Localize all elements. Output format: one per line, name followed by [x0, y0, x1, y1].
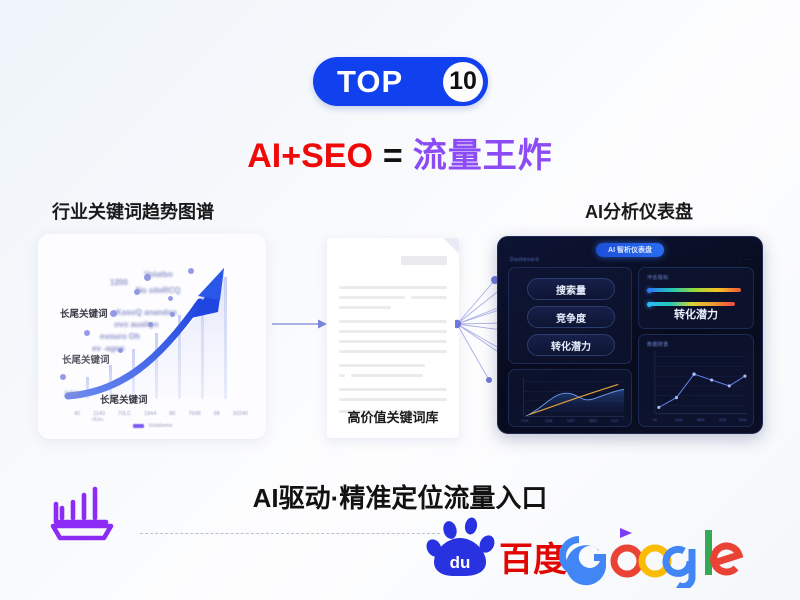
blur-text: 13%: [64, 390, 80, 399]
trend-legend: Volatiome: [48, 423, 258, 429]
x-tick: 1844: [144, 411, 156, 417]
flow-arrow-icon: [272, 318, 328, 330]
top-number: 10: [443, 62, 483, 102]
x-tick: 04: [653, 418, 657, 422]
dashboard-badge: AI 智析仪表盘: [596, 243, 664, 257]
metric-pill-competition[interactable]: 竞争度: [527, 306, 615, 328]
x-tick: 1244: [675, 418, 683, 422]
x-tick: 1124: [719, 418, 726, 422]
top-label: TOP: [337, 66, 403, 97]
keyword-label: 长尾关键词: [100, 392, 148, 406]
headline-equals: =: [383, 137, 403, 175]
x-tick: 98: [214, 411, 220, 417]
x-tick: 40: [74, 411, 80, 417]
blur-text: ovo aualign: [114, 320, 158, 329]
x-tick: 2147: [611, 419, 619, 423]
document-label: 高价值关键词库: [327, 407, 459, 426]
x-tick: 7698: [188, 411, 200, 417]
headline-left: AI+SEO: [247, 137, 373, 175]
headline-right: 流量王炸: [413, 137, 553, 175]
keyword-library-document: 高价值关键词库: [327, 238, 459, 438]
legend-swatch: [133, 424, 144, 428]
ai-dashboard: AI 智析仪表盘 Dashboard ··· 搜索量 竞争度 转化潜力: [497, 236, 763, 434]
area-chart: [509, 370, 631, 426]
blur-text: No siteRCQ: [136, 286, 180, 295]
section-title-right: AI分析仪表盘: [585, 198, 693, 224]
bar-chart-pedestal-icon: [44, 482, 120, 544]
x-tick: 0894: [589, 419, 597, 423]
page-fold-icon: [443, 238, 459, 254]
metric-pill-search-volume[interactable]: 搜索量: [527, 278, 615, 300]
impact-gradient-panel: 冲击指标 转化潜力: [638, 267, 754, 329]
blur-text: evouro Oh: [100, 332, 140, 341]
keyword-label: 长尾关键词: [62, 352, 110, 366]
x-tick: 30240: [233, 411, 248, 417]
divider-dotted-line: [140, 533, 440, 534]
x-tick: 1146: [545, 419, 552, 423]
page-title: AI+SEO=流量王炸: [0, 128, 800, 177]
trend-chart: Volatbn No siteRCQ KasoQ anandan ovo aua…: [48, 244, 258, 431]
gradient-overlay-label: 转化潜力: [639, 306, 753, 322]
bottom-tagline: AI驱动·精准定位流量入口: [0, 478, 800, 515]
keyword-trend-card: Volatbn No siteRCQ KasoQ anandan ovo aua…: [38, 234, 266, 439]
play-arrow-icon: [620, 528, 632, 538]
blur-text: 1200: [110, 278, 128, 287]
poster-canvas: TOP 10 AI+SEO=流量王炸 行业关键词趋势图谱 AI分析仪表盘: [0, 0, 800, 600]
doc-header-block: [401, 256, 447, 265]
x-tick: 77x4: [521, 419, 528, 423]
dashboard-menu-icon[interactable]: ···: [740, 257, 752, 263]
top-rank-badge: TOP 10: [313, 57, 488, 106]
x-tick: 80: [169, 411, 175, 417]
x-tick: 0804: [697, 418, 705, 422]
line-chart-panel: 数据转置 04 1244 0804 1124 0018: [638, 334, 754, 427]
section-title-left: 行业关键词趋势图谱: [52, 198, 214, 224]
google-logo: [559, 530, 739, 587]
area-chart-panel: 77x4 1146 1497 0894 2147: [508, 369, 632, 427]
blur-text: KasoQ anandan: [116, 308, 177, 317]
x-tick: 1497: [567, 419, 575, 423]
x-tick: 0018: [739, 418, 747, 422]
blur-text: Volatbn: [144, 270, 173, 279]
line-chart: [639, 335, 753, 426]
svg-text:du: du: [450, 553, 471, 572]
keyword-label: 长尾关键词: [60, 306, 108, 320]
metric-pill-conversion[interactable]: 转化潜力: [527, 334, 615, 356]
legend-label: Volatiome: [148, 423, 172, 429]
panel-title: 冲击指标: [647, 274, 669, 281]
metrics-panel: 搜索量 竞争度 转化潜力: [508, 267, 632, 364]
baidu-wordmark: 百度: [499, 540, 567, 580]
x-tick: 70LC: [118, 411, 131, 417]
search-engine-logos: du 百度: [424, 516, 744, 588]
dashboard-subtitle: Dashboard: [510, 257, 539, 263]
